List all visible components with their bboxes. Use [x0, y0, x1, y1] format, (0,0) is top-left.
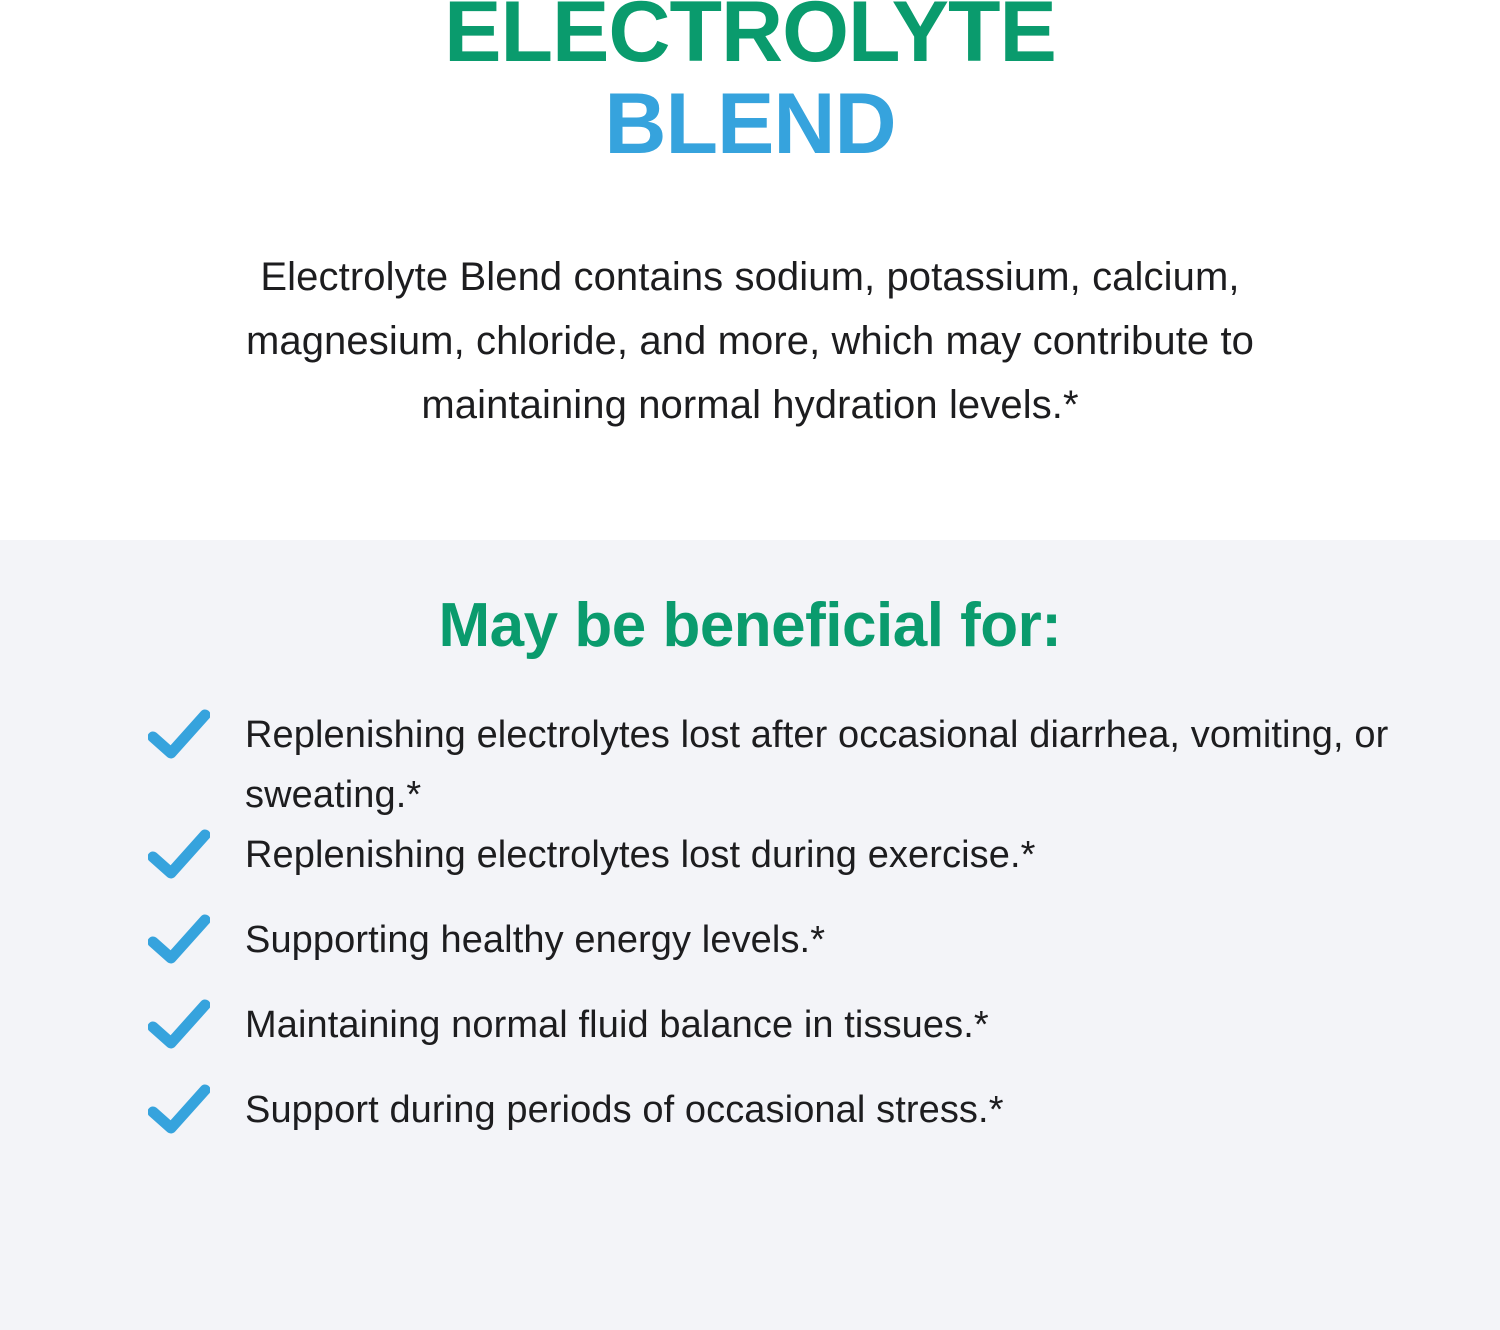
check-icon-wrap [148, 705, 245, 763]
check-icon-wrap [148, 825, 245, 883]
product-description: Electrolyte Blend contains sodium, potas… [170, 245, 1330, 437]
list-item-label: Supporting healthy energy levels.* [245, 910, 1408, 970]
benefits-section: May be beneficial for: Replenishing elec… [0, 540, 1500, 1330]
list-item: Maintaining normal fluid balance in tiss… [148, 995, 1408, 1080]
check-icon-wrap [148, 910, 245, 968]
product-title: ELECTROLYTE BLEND [0, 0, 1500, 170]
list-item-label: Replenishing electrolytes lost during ex… [245, 825, 1408, 885]
check-icon [148, 914, 210, 968]
list-item: Supporting healthy energy levels.* [148, 910, 1408, 995]
product-title-line-electrolyte: ELECTROLYTE [0, 0, 1500, 78]
benefits-heading: May be beneficial for: [0, 588, 1500, 664]
hero-section: ELECTROLYTE BLEND Electrolyte Blend cont… [0, 0, 1500, 540]
benefits-list: Replenishing electrolytes lost after occ… [148, 705, 1408, 1165]
list-item: Replenishing electrolytes lost during ex… [148, 825, 1408, 910]
list-item-label: Maintaining normal fluid balance in tiss… [245, 995, 1408, 1055]
product-title-line-blend: BLEND [0, 78, 1500, 170]
list-item: Replenishing electrolytes lost after occ… [148, 705, 1408, 825]
check-icon [148, 1084, 210, 1138]
list-item: Support during periods of occasional str… [148, 1080, 1408, 1165]
check-icon [148, 999, 210, 1053]
check-icon [148, 829, 210, 883]
list-item-label: Support during periods of occasional str… [245, 1080, 1408, 1140]
check-icon-wrap [148, 995, 245, 1053]
list-item-label: Replenishing electrolytes lost after occ… [245, 705, 1408, 825]
check-icon-wrap [148, 1080, 245, 1138]
check-icon [148, 709, 210, 763]
